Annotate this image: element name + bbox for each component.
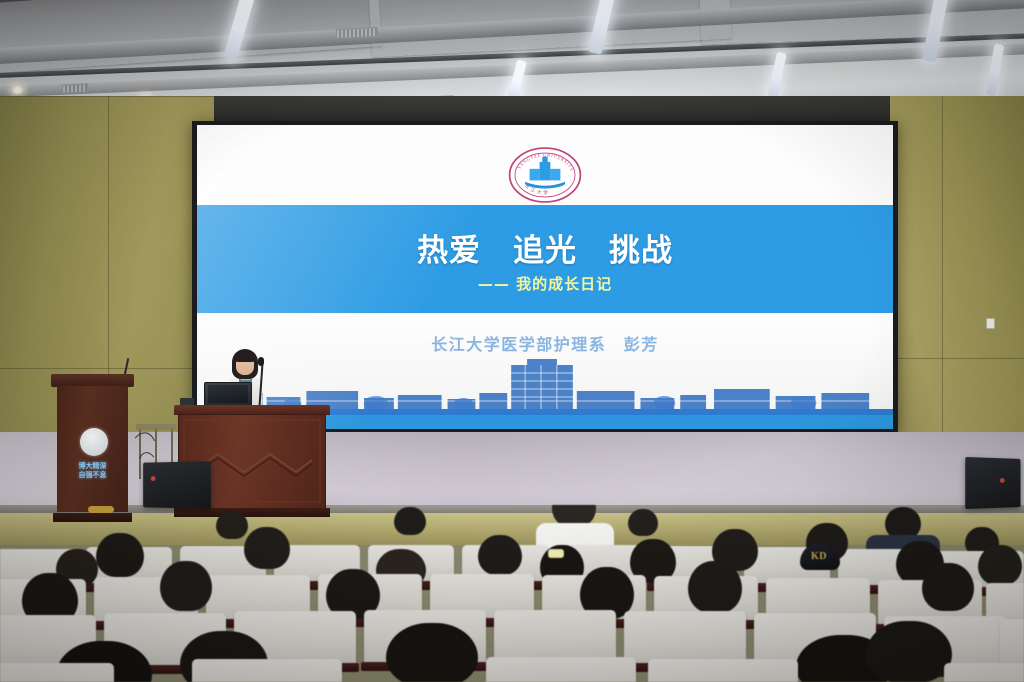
podium-motto: 博大精深 自强不息 xyxy=(57,462,128,480)
laptop-icon xyxy=(204,382,252,407)
power-outlet xyxy=(986,318,995,329)
projection-screen-frame: YANGTZE UNIVERSITY 长江大学 热爱 追光 挑战 xyxy=(192,121,898,433)
audience-head xyxy=(688,561,742,613)
seat-row4[interactable] xyxy=(486,657,636,682)
seat-row3[interactable] xyxy=(624,611,746,665)
seat-row4[interactable] xyxy=(192,659,342,682)
audience-head xyxy=(386,623,478,682)
audience-head xyxy=(244,527,290,569)
audience-head xyxy=(160,561,212,611)
podium-motto-line-1: 博大精深 xyxy=(57,462,128,471)
subtitle-dash: —— xyxy=(478,275,510,293)
stage-floor-monitor-left xyxy=(143,461,211,508)
slide-title: 热爱 追光 挑战 xyxy=(197,225,893,270)
audience-head xyxy=(478,535,522,575)
seat-row3[interactable] xyxy=(494,610,616,664)
lecture-hall-scene: YANGTZE UNIVERSITY 长江大学 热爱 追光 挑战 xyxy=(0,0,1024,682)
ceiling-vent xyxy=(62,83,88,93)
projection-screen: YANGTZE UNIVERSITY 长江大学 热爱 追光 挑战 xyxy=(197,125,893,429)
standing-podium: 博大精深 自强不息 xyxy=(55,374,130,522)
slide-title-band: 热爱 追光 挑战 —— 我的成长日记 xyxy=(197,205,893,313)
audience-head xyxy=(922,563,974,611)
yellow-hair-bow xyxy=(548,549,564,558)
slide-logo-container: YANGTZE UNIVERSITY 长江大学 xyxy=(197,145,893,205)
audience-head xyxy=(394,507,426,535)
seat-row4[interactable] xyxy=(648,659,798,682)
audience-head xyxy=(866,621,952,682)
podium-motto-line-2: 自强不息 xyxy=(57,471,128,480)
cap-logo-text: KD xyxy=(811,551,827,562)
audience-area: KD xyxy=(0,505,1024,682)
audience-head xyxy=(96,533,144,577)
audience-head xyxy=(628,509,658,536)
seat-row4[interactable] xyxy=(944,663,1024,682)
podium-emblem-icon xyxy=(80,428,108,456)
ceiling-downlight xyxy=(12,86,23,94)
slide-presenter-line: 长江大学医学部护理系 彭芳 xyxy=(197,331,893,355)
subtitle-text: 我的成长日记 xyxy=(516,275,612,293)
stage-floor-monitor-right xyxy=(965,457,1020,509)
audience-head xyxy=(978,545,1022,585)
slide-subtitle: —— 我的成长日记 xyxy=(197,273,893,294)
audience-head xyxy=(216,511,248,539)
yangtze-university-seal-icon: YANGTZE UNIVERSITY 长江大学 xyxy=(506,145,584,205)
seat-row4[interactable] xyxy=(0,663,114,682)
